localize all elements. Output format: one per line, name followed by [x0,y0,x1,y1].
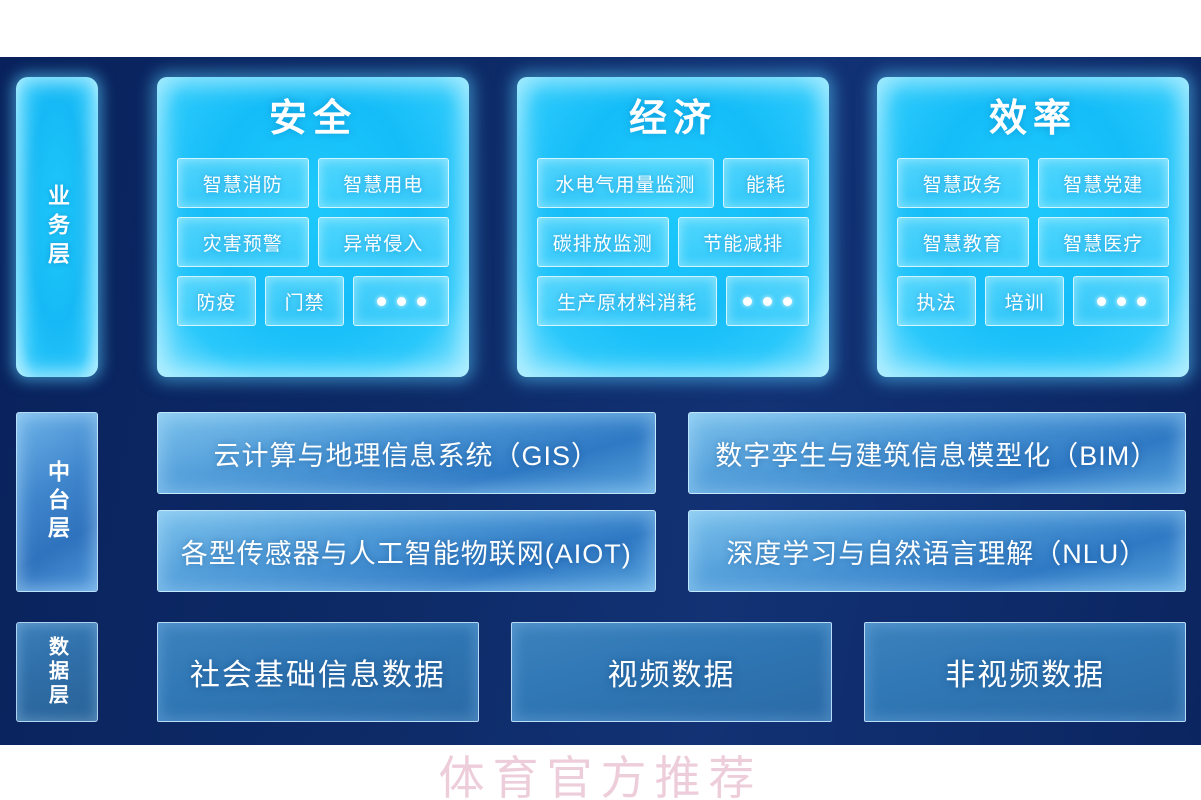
data-layer-row: 数据层 社会基础信息数据 视频数据 非视频数据 [16,622,1186,722]
tile-energy-consumption[interactable]: 能耗 [723,158,809,208]
platform-card-nlu[interactable]: 深度学习与自然语言理解（NLU） [688,510,1187,592]
layer-tab-platform[interactable]: 中台层 [16,412,98,592]
ellipsis-dot-icon [417,297,426,306]
tile-smart-healthcare[interactable]: 智慧医疗 [1038,217,1170,267]
platform-card-gis[interactable]: 云计算与地理信息系统（GIS） [157,412,656,494]
business-card-efficiency-tiles: 智慧政务 智慧党建 智慧教育 智慧医疗 执法 培训 [897,158,1169,326]
tile-raw-material-consumption[interactable]: 生产原材料消耗 [537,276,717,326]
ellipsis-dot-icon [1137,297,1146,306]
platform-cards: 云计算与地理信息系统（GIS） 数字孪生与建筑信息模型化（BIM） 各型传感器与… [157,412,1186,592]
tile-law-enforcement[interactable]: 执法 [897,276,976,326]
ellipsis-dot-icon [397,297,406,306]
layer-tab-business[interactable]: 业务层 [16,77,98,377]
tile-more-dots-economy[interactable] [726,276,809,326]
tile-utility-usage-monitoring[interactable]: 水电气用量监测 [537,158,714,208]
data-card-video[interactable]: 视频数据 [511,622,833,722]
layer-tab-business-label: 业务层 [41,184,73,271]
tile-training[interactable]: 培训 [985,276,1064,326]
tile-disaster-warning[interactable]: 灾害预警 [177,217,309,267]
ellipsis-dot-icon [763,297,772,306]
layer-tab-data[interactable]: 数据层 [16,622,98,722]
business-card-efficiency[interactable]: 效率 智慧政务 智慧党建 智慧教育 智慧医疗 执法 培训 [877,77,1189,377]
tile-more-dots-efficiency[interactable] [1073,276,1169,326]
layer-tab-platform-label: 中台层 [41,460,73,544]
business-card-economy-title: 经济 [537,91,809,148]
tile-row: 智慧教育 智慧医疗 [897,217,1169,267]
tile-access-control[interactable]: 门禁 [265,276,344,326]
tile-smart-fire[interactable]: 智慧消防 [177,158,309,208]
tile-row: 执法 培训 [897,276,1169,326]
business-card-economy-tiles: 水电气用量监测 能耗 碳排放监测 节能减排 生产原材料消耗 [537,158,809,326]
tile-smart-education[interactable]: 智慧教育 [897,217,1029,267]
tile-smart-party-building[interactable]: 智慧党建 [1038,158,1170,208]
data-card-non-video[interactable]: 非视频数据 [864,622,1186,722]
platform-layer-row: 中台层 云计算与地理信息系统（GIS） 数字孪生与建筑信息模型化（BIM） 各型… [16,412,1186,592]
tile-epidemic-prevention[interactable]: 防疫 [177,276,256,326]
tile-row: 水电气用量监测 能耗 [537,158,809,208]
ellipsis-dot-icon [1117,297,1126,306]
platform-card-aiot[interactable]: 各型传感器与人工智能物联网(AIOT) [157,510,656,592]
tile-carbon-emission-monitoring[interactable]: 碳排放监测 [537,217,669,267]
tile-row: 智慧政务 智慧党建 [897,158,1169,208]
business-columns: 安全 智慧消防 智慧用电 灾害预警 异常侵入 防疫 门禁 [157,77,1189,377]
business-card-safety-title: 安全 [177,91,449,148]
ellipsis-dot-icon [783,297,792,306]
business-layer-row: 业务层 安全 智慧消防 智慧用电 灾害预警 异常侵入 [16,77,1186,377]
watermark-text: 体育官方推荐 [0,742,1201,800]
tile-energy-saving-emission-reduction[interactable]: 节能减排 [678,217,810,267]
ellipsis-dot-icon [1097,297,1106,306]
platform-card-bim[interactable]: 数字孪生与建筑信息模型化（BIM） [688,412,1187,494]
tile-abnormal-intrusion[interactable]: 异常侵入 [318,217,450,267]
tile-row: 生产原材料消耗 [537,276,809,326]
tile-row: 防疫 门禁 [177,276,449,326]
business-card-efficiency-title: 效率 [897,91,1169,148]
architecture-panel: 业务层 安全 智慧消防 智慧用电 灾害预警 异常侵入 [0,57,1201,745]
ellipsis-dot-icon [377,297,386,306]
business-card-safety-tiles: 智慧消防 智慧用电 灾害预警 异常侵入 防疫 门禁 [177,158,449,326]
data-cards: 社会基础信息数据 视频数据 非视频数据 [157,622,1186,722]
tile-row: 碳排放监测 节能减排 [537,217,809,267]
tile-row: 智慧消防 智慧用电 [177,158,449,208]
business-card-safety[interactable]: 安全 智慧消防 智慧用电 灾害预警 异常侵入 防疫 门禁 [157,77,469,377]
diagram-stage: 业务层 安全 智慧消防 智慧用电 灾害预警 异常侵入 [0,0,1201,800]
tile-more-dots-safety[interactable] [353,276,449,326]
tile-smart-government[interactable]: 智慧政务 [897,158,1029,208]
tile-row: 灾害预警 异常侵入 [177,217,449,267]
layer-tab-data-label: 数据层 [43,636,72,708]
data-card-social-basic-info[interactable]: 社会基础信息数据 [157,622,479,722]
business-card-economy[interactable]: 经济 水电气用量监测 能耗 碳排放监测 节能减排 生产原材料消耗 [517,77,829,377]
ellipsis-dot-icon [743,297,752,306]
tile-smart-electricity[interactable]: 智慧用电 [318,158,450,208]
